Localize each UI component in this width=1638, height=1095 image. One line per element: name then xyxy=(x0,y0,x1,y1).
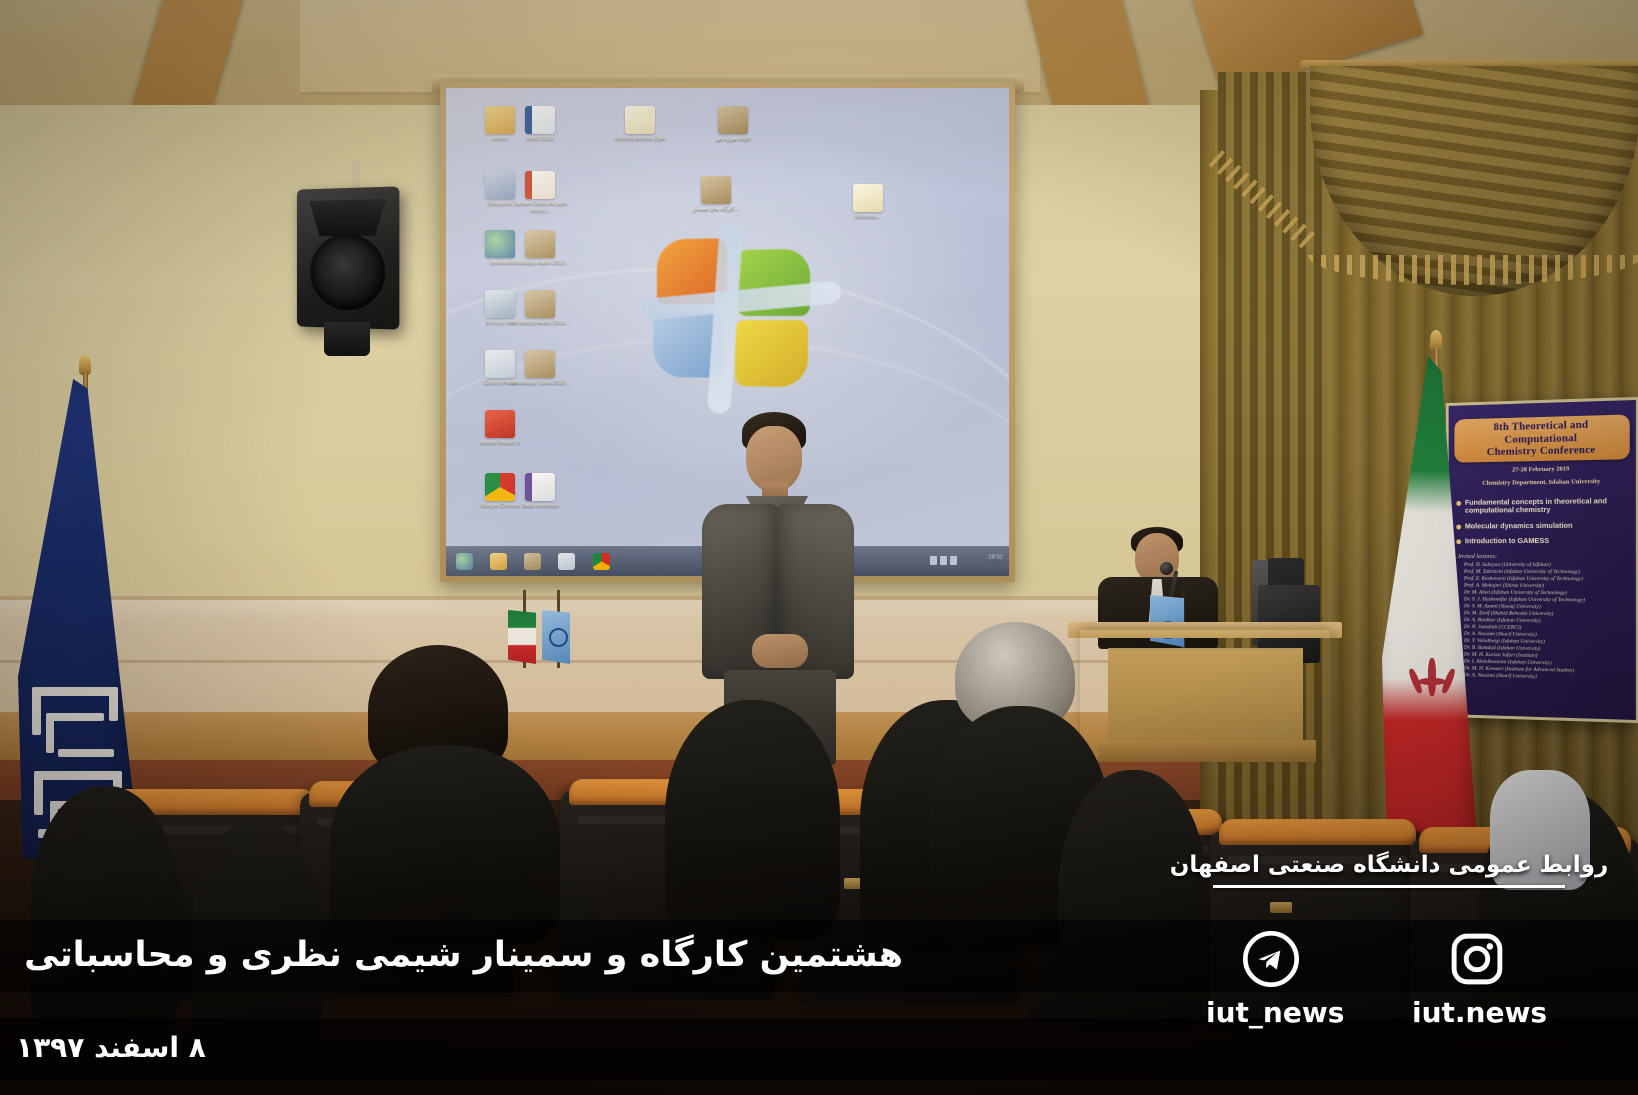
speaker-hands xyxy=(752,634,808,668)
instagram-handle: iut.news xyxy=(1412,996,1542,1029)
flag-finial xyxy=(79,355,91,375)
desktop-icon-workshop[interactable]: کارگاه های سمینار... xyxy=(684,176,748,213)
audio-file-icon xyxy=(525,473,555,501)
desk-flag-iut xyxy=(542,604,572,666)
media-library-icon[interactable] xyxy=(524,553,541,570)
iran-emblem-icon xyxy=(1410,656,1454,702)
pr-credit-rule xyxy=(1213,885,1565,888)
internet-explorer-icon[interactable] xyxy=(456,553,473,570)
audience-person-body xyxy=(30,786,180,1036)
desktop-icon-adobe-reader[interactable]: Adobe Reader 9 xyxy=(468,410,532,447)
desktop-icon-ppt-zamani[interactable]: Zamani Ostan Ali jazb eshab... xyxy=(508,171,572,214)
system-tray[interactable] xyxy=(930,556,957,565)
pdf-icon xyxy=(485,410,515,438)
media-file-icon xyxy=(525,350,555,378)
podium-base xyxy=(1098,740,1316,762)
chrome-icon[interactable] xyxy=(593,553,610,570)
media-file-icon xyxy=(525,290,555,318)
telegram-handle: iut_news xyxy=(1206,996,1336,1029)
windows-logo-icon xyxy=(653,236,817,399)
audience-person-body xyxy=(330,745,560,945)
iran-flag-cloth xyxy=(1382,356,1478,876)
audience-person-body xyxy=(665,700,840,940)
desktop-icon-whatsapp-audio-2[interactable]: WhatsApp Audio 2019... xyxy=(508,290,572,327)
social-telegram[interactable]: iut_news xyxy=(1206,930,1336,1029)
iran-flag xyxy=(1376,330,1496,890)
stage-desk-flags xyxy=(508,588,580,684)
microphone-icon xyxy=(1160,562,1173,575)
flag-finial xyxy=(1430,330,1442,350)
desktop-icon-audio-track[interactable]: Sadd ol-manoo xyxy=(508,473,572,510)
text-file-icon xyxy=(853,184,883,212)
desktop-icon-whatsapp-video[interactable]: WhatsApp Video 2019... xyxy=(508,350,572,387)
taskbar-clock: 18:52 xyxy=(988,555,1003,561)
desktop-icon-conoosi[interactable]: conoosi Ambon Zaei xyxy=(608,106,672,143)
speaker-horn xyxy=(309,199,386,236)
image-file-icon xyxy=(701,176,731,204)
telegram-icon xyxy=(1242,930,1300,988)
event-title: هشتمین کارگاه و سمینار شیمی نظری و محاسب… xyxy=(24,925,903,985)
event-date: ۸ اسفند ۱۳۹۷ xyxy=(16,1022,206,1074)
social-instagram[interactable]: iut.news xyxy=(1412,930,1542,1029)
pa-speaker xyxy=(297,186,399,329)
powerpoint-icon xyxy=(525,171,555,199)
speaker-cone xyxy=(310,234,385,311)
social-links: iut_news iut.news xyxy=(1206,930,1542,1029)
speaker-mount xyxy=(324,322,370,356)
pr-credit-block: روابط عمومی دانشگاه صنعتی اصفهان xyxy=(1154,852,1624,888)
image-file-icon xyxy=(718,106,748,134)
desktop-icon-word[interactable]: Word 2013 xyxy=(508,106,572,143)
conference-photo: admin Computer Network Recycle Bin Contr… xyxy=(0,0,1638,1095)
media-file-icon xyxy=(525,230,555,258)
instagram-icon xyxy=(1448,930,1506,988)
desktop-icon-khordoei[interactable]: Khordoei... xyxy=(836,184,900,221)
explorer-icon[interactable] xyxy=(490,553,507,570)
pr-credit-text: روابط عمومی دانشگاه صنعتی اصفهان xyxy=(1154,852,1624,878)
podium-front-panel xyxy=(1108,648,1303,740)
media-player-icon[interactable] xyxy=(558,553,575,570)
desk-flag-iran xyxy=(508,604,538,666)
desktop-icon-whatsapp-audio-1[interactable]: WhatsApp Audio 2019... xyxy=(508,230,572,267)
desktop-icon-logo[interactable]: هزاره من Logo xyxy=(701,106,765,143)
word-icon xyxy=(525,106,555,134)
text-file-icon xyxy=(625,106,655,134)
